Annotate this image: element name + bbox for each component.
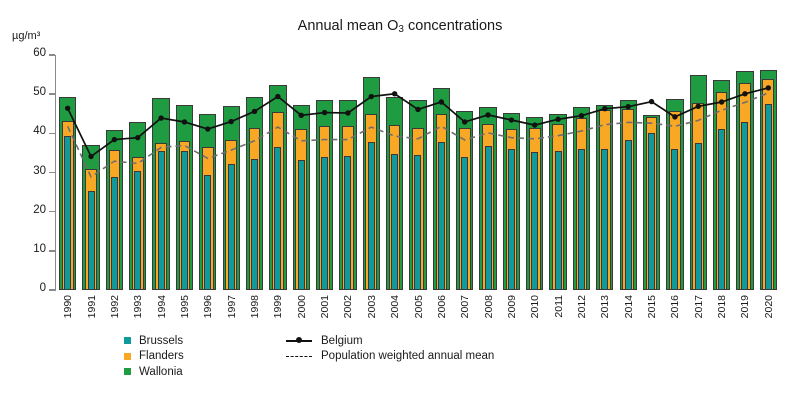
- bar-brussels-2017: [695, 143, 702, 290]
- bar-brussels-2020: [765, 104, 772, 290]
- x-axis-tick-label: 2014: [623, 295, 635, 318]
- bar-brussels-2018: [718, 129, 725, 290]
- x-axis-tick-label: 1992: [109, 295, 121, 318]
- bar-brussels-2007: [461, 157, 468, 290]
- legend-item-label: Wallonia: [139, 366, 183, 378]
- x-axis-tick-label: 2012: [576, 295, 588, 318]
- x-axis-tick-label: 2020: [763, 295, 775, 318]
- bar-brussels-1995: [181, 151, 188, 290]
- y-axis-tick: [49, 289, 55, 290]
- legend-item-label: Belgium: [321, 335, 363, 347]
- chart-legend: BrusselsFlandersWallonia BelgiumPopulati…: [0, 333, 800, 395]
- bar-brussels-2012: [578, 149, 585, 290]
- legend-item-label: Flanders: [139, 350, 184, 362]
- y-axis-tick: [49, 93, 55, 94]
- bar-brussels-2005: [414, 155, 421, 290]
- legend-item-wallonia[interactable]: Wallonia: [124, 364, 184, 380]
- x-axis-tick-label: 2009: [506, 295, 518, 318]
- bar-brussels-1999: [274, 147, 281, 290]
- bar-brussels-2016: [671, 149, 678, 290]
- chart-title-main: Annual mean O: [298, 18, 399, 34]
- x-axis-tick-label: 1995: [179, 295, 191, 318]
- y-axis-tick: [49, 54, 55, 55]
- bar-brussels-2015: [648, 133, 655, 290]
- y-axis-tick-label: 40: [16, 125, 46, 137]
- legend-lines: BelgiumPopulation weighted annual mean: [286, 333, 494, 364]
- bar-brussels-2014: [625, 140, 632, 290]
- bar-brussels-1997: [228, 164, 235, 290]
- legend-item-flanders[interactable]: Flanders: [124, 349, 184, 365]
- y-axis-tick-label: 10: [16, 243, 46, 255]
- bar-brussels-1993: [134, 171, 141, 290]
- dashed-line-icon: [286, 351, 312, 362]
- plot-area: [56, 55, 780, 290]
- x-axis-tick-label: 1997: [226, 295, 238, 318]
- bar-brussels-2008: [485, 146, 492, 290]
- bar-brussels-1998: [251, 159, 258, 290]
- x-axis-tick-label: 1993: [132, 295, 144, 318]
- x-axis-tick-label: 1996: [202, 295, 214, 318]
- bar-brussels-2019: [741, 122, 748, 290]
- x-axis-tick-label: 2015: [646, 295, 658, 318]
- x-axis-tick-label: 2016: [669, 295, 681, 318]
- legend-item-label: Brussels: [139, 335, 183, 347]
- x-axis-tick-label: 2003: [366, 295, 378, 318]
- bar-brussels-1991: [88, 191, 95, 290]
- solid-line-marker-icon: [286, 335, 312, 346]
- x-axis-tick-label: 2017: [693, 295, 705, 318]
- y-axis-tick-label: 60: [16, 47, 46, 59]
- bar-brussels-2000: [298, 160, 305, 290]
- x-axis-tick-label: 1991: [86, 295, 98, 318]
- y-axis-tick-label: 20: [16, 204, 46, 216]
- x-axis-tick-label: 2004: [389, 295, 401, 318]
- legend-item-belgium[interactable]: Belgium: [286, 333, 494, 349]
- y-axis-tick-label: 50: [16, 86, 46, 98]
- legend-regions: BrusselsFlandersWallonia: [124, 333, 184, 380]
- chart-title-tail: concentrations: [404, 18, 502, 34]
- legend-swatch-icon: [124, 337, 131, 344]
- bar-brussels-1994: [158, 151, 165, 290]
- bar-brussels-1990: [64, 136, 71, 290]
- legend-item-brussels[interactable]: Brussels: [124, 333, 184, 349]
- bar-brussels-1996: [204, 175, 211, 290]
- bar-brussels-2010: [531, 152, 538, 290]
- x-axis-tick-label: 2013: [599, 295, 611, 318]
- bar-brussels-2002: [344, 156, 351, 290]
- chart-title: Annual mean O3 concentrations: [0, 18, 800, 35]
- bar-brussels-1992: [111, 177, 118, 290]
- x-axis-tick-label: 2005: [413, 295, 425, 318]
- legend-item-population-weighted-annual-mean[interactable]: Population weighted annual mean: [286, 349, 494, 365]
- x-axis-tick-label: 2008: [483, 295, 495, 318]
- x-axis-tick-label: 2002: [342, 295, 354, 318]
- bar-brussels-2003: [368, 142, 375, 290]
- x-axis-tick-label: 1999: [272, 295, 284, 318]
- x-axis-tick-label: 1998: [249, 295, 261, 318]
- x-axis-tick-label: 2018: [716, 295, 728, 318]
- chart-container: Annual mean O3 concentrations µg/m³ 0102…: [0, 0, 800, 400]
- legend-swatch-icon: [124, 353, 131, 360]
- bar-brussels-2001: [321, 157, 328, 290]
- bar-brussels-2011: [555, 151, 562, 290]
- x-axis-tick-label: 2006: [436, 295, 448, 318]
- x-axis-tick-label: 2007: [459, 295, 471, 318]
- y-axis-tick: [49, 211, 55, 212]
- bar-brussels-2004: [391, 154, 398, 290]
- bar-brussels-2013: [601, 149, 608, 290]
- x-axis-tick-label: 2000: [296, 295, 308, 318]
- y-axis-tick: [49, 250, 55, 251]
- y-axis-tick: [49, 133, 55, 134]
- y-axis-tick: [49, 172, 55, 173]
- x-axis-tick-label: 1990: [62, 295, 74, 318]
- legend-swatch-icon: [124, 368, 131, 375]
- x-axis-tick-label: 2001: [319, 295, 331, 318]
- bar-brussels-2009: [508, 149, 515, 290]
- x-axis-tick-label: 1994: [156, 295, 168, 318]
- x-axis-tick-label: 2010: [529, 295, 541, 318]
- bar-brussels-2006: [438, 142, 445, 290]
- y-axis-tick-label: 30: [16, 165, 46, 177]
- x-axis-tick-label: 2019: [739, 295, 751, 318]
- legend-item-label: Population weighted annual mean: [321, 350, 494, 362]
- x-axis-tick-label: 2011: [553, 295, 565, 318]
